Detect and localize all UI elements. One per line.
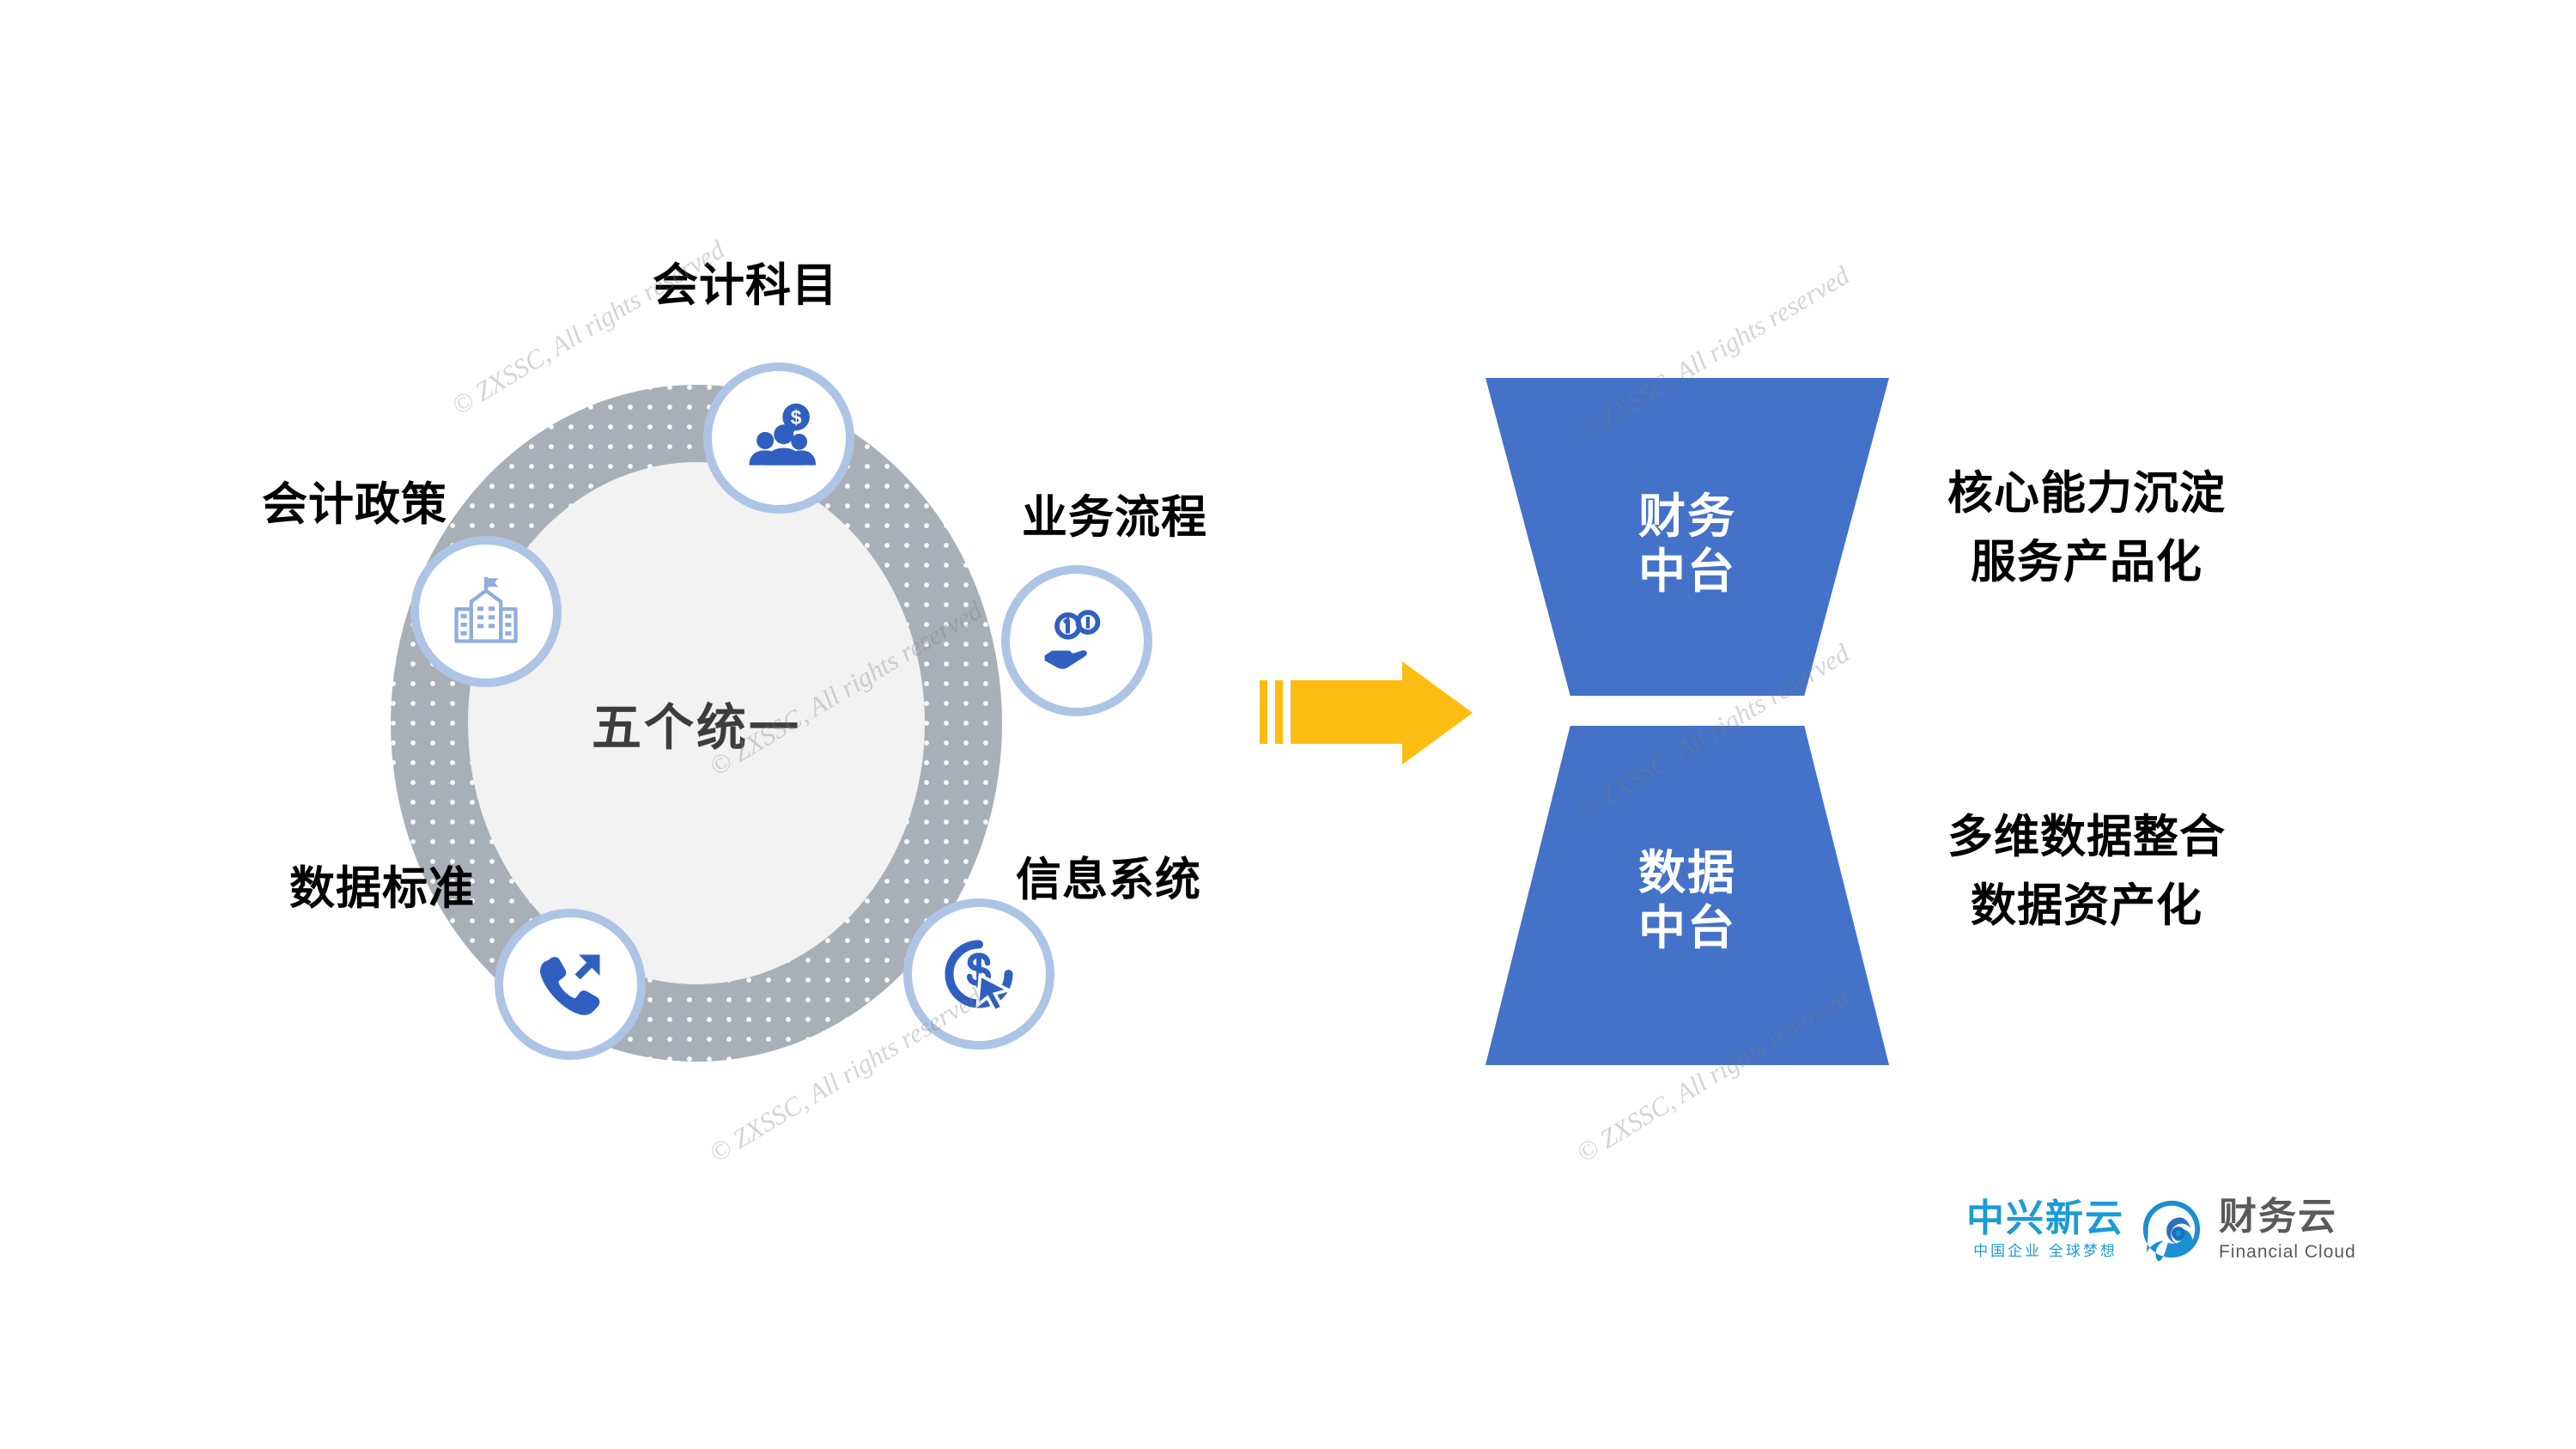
dollar-click-icon — [939, 935, 1018, 1014]
platform-finance-middle[interactable]: 财务 中台 — [1485, 378, 1889, 696]
arrow-tick-outer — [1260, 680, 1267, 744]
platform-data-line1: 数据 — [1638, 846, 1736, 901]
benefit-data-line1: 多维数据整合 — [1947, 803, 2226, 872]
platform-finance-label: 财务 中台 — [1638, 490, 1736, 600]
hand-coins-icon — [1037, 601, 1116, 680]
cloud-swirl-icon — [2138, 1196, 2205, 1263]
platform-data-label: 数据 中台 — [1638, 846, 1736, 956]
ring-label-information-system: 信息系统 — [1016, 843, 1201, 909]
slide-canvas: 五个统一 $ — [0, 0, 2576, 1449]
ring-bubble-accounting-subject[interactable]: $ — [703, 362, 854, 514]
ring-bubble-data-standard[interactable] — [495, 909, 646, 1060]
platform-finance-line1: 财务 — [1638, 490, 1736, 545]
ring-bubble-information-system[interactable] — [903, 898, 1054, 1050]
company-logo: 中兴新云 中国企业 全球梦想 财务云 Financial Cloud — [1966, 1196, 2356, 1263]
arrow-tick-inner — [1275, 680, 1283, 744]
ring-bubble-accounting-policy[interactable] — [410, 536, 562, 687]
ring-center-label: 五个统一 — [391, 687, 1002, 759]
arrow-shaft — [1291, 680, 1411, 744]
ring-label-business-process: 业务流程 — [1022, 481, 1207, 546]
benefit-finance-line1: 核心能力沉淀 — [1947, 460, 2226, 528]
logo-brand-tagline: 中国企业 全球梦想 — [1973, 1244, 2117, 1258]
government-building-icon — [447, 572, 526, 651]
logo-brand-block: 中兴新云 中国企业 全球梦想 — [1966, 1200, 2124, 1258]
svg-text:$: $ — [791, 406, 802, 429]
logo-brand-name: 中兴新云 — [1966, 1200, 2124, 1238]
logo-product-block: 财务云 Financial Cloud — [2219, 1198, 2356, 1261]
arrow-head — [1402, 661, 1473, 764]
ring-bubble-business-process[interactable] — [1001, 565, 1152, 716]
ring-label-accounting-policy: 会计政策 — [262, 468, 447, 533]
phone-outgoing-icon — [531, 945, 610, 1024]
platform-data-middle[interactable]: 数据 中台 — [1485, 726, 1889, 1065]
benefit-data-line2: 数据资产化 — [1947, 872, 2226, 941]
logo-product-name-en: Financial Cloud — [2219, 1243, 2356, 1261]
platform-hourglass: 财务 中台 数据 中台 — [1485, 378, 1889, 1065]
logo-product-name: 财务云 — [2219, 1198, 2337, 1236]
benefit-finance-line2: 服务产品化 — [1947, 528, 2226, 597]
benefit-finance: 核心能力沉淀 服务产品化 — [1947, 460, 2226, 596]
right-arrow-icon — [1258, 661, 1490, 764]
benefit-data: 多维数据整合 数据资产化 — [1947, 803, 2226, 940]
platform-finance-line2: 中台 — [1638, 545, 1736, 600]
ring-label-accounting-subject: 会计科目 — [653, 249, 838, 314]
platform-data-line2: 中台 — [1638, 901, 1736, 956]
people-money-icon: $ — [739, 399, 818, 478]
ring-label-data-standard: 数据标准 — [289, 852, 475, 917]
